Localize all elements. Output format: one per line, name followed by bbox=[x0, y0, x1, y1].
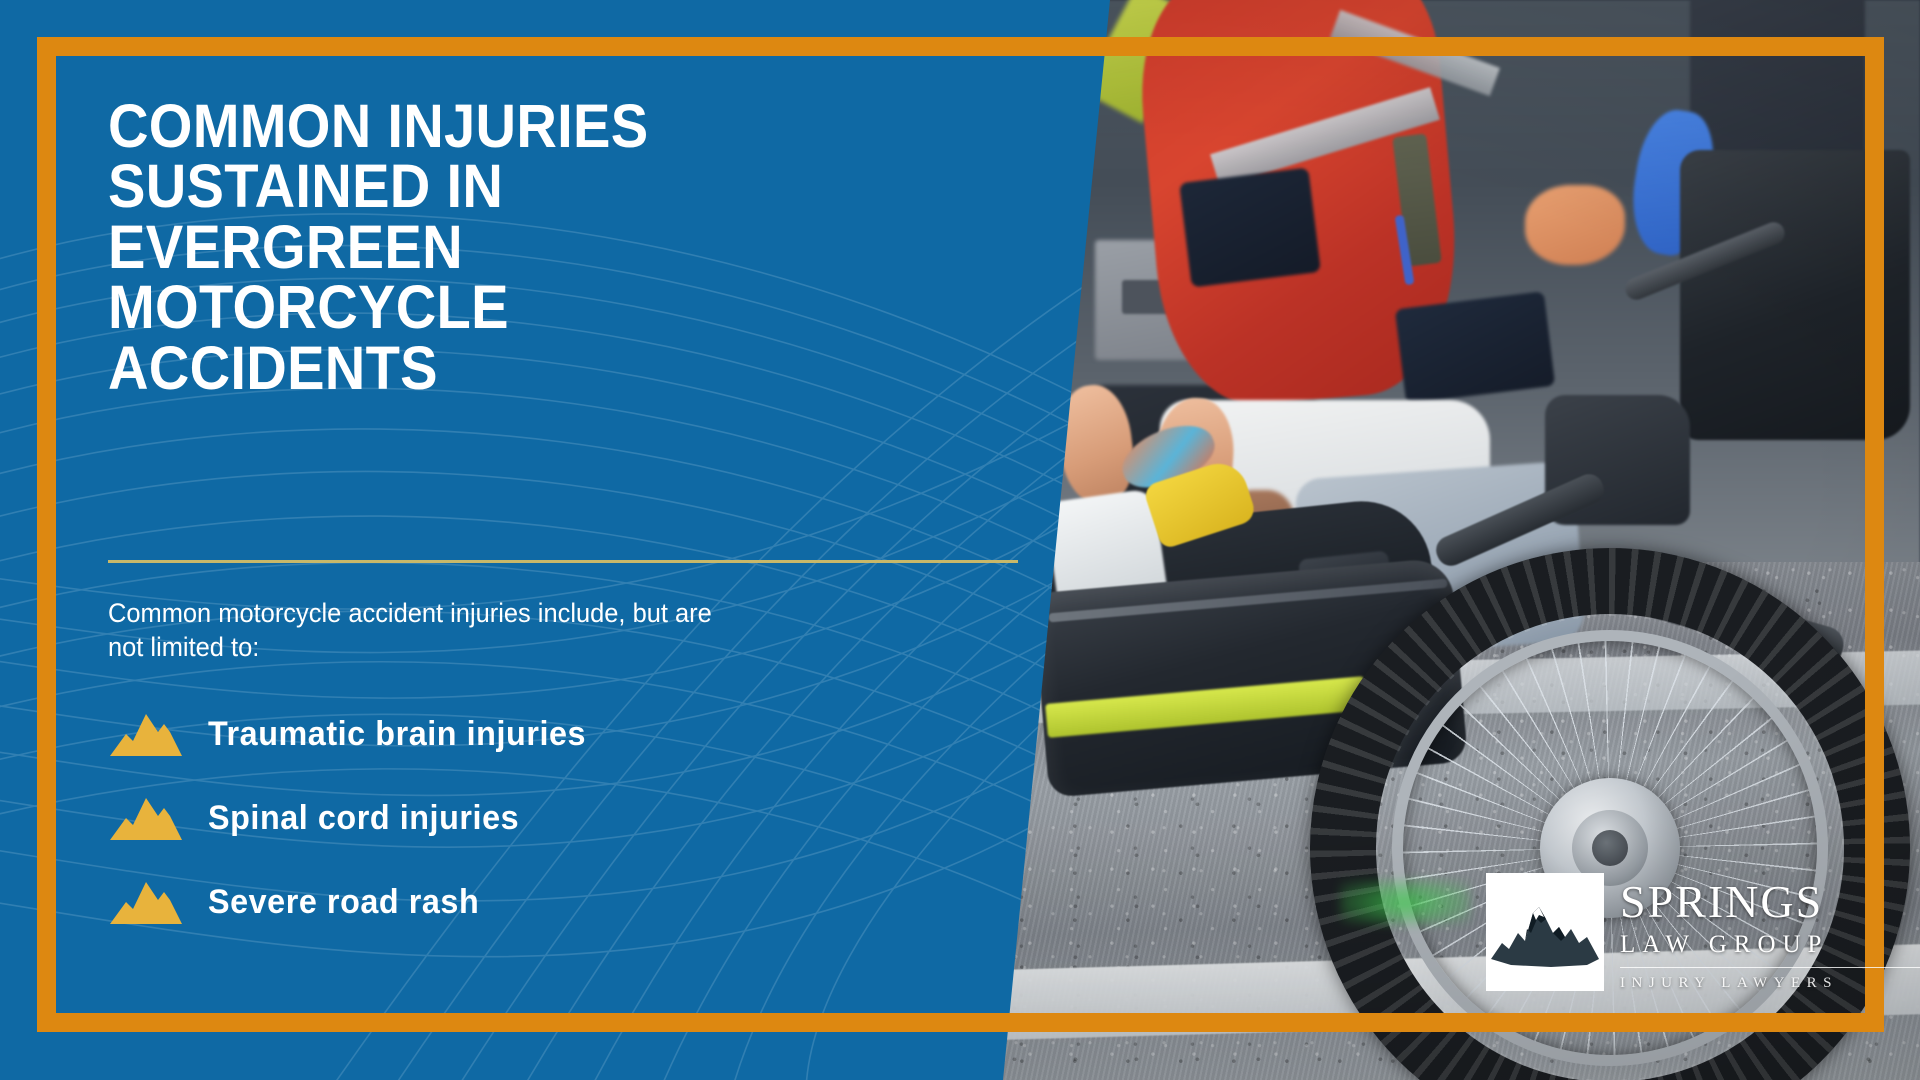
list-item: Severe road rash bbox=[108, 868, 938, 936]
mountain-icon bbox=[108, 710, 184, 758]
logo-mark-tile bbox=[1486, 873, 1604, 991]
springs-law-group-logo[interactable]: SPRINGS LAW GROUP INJURY LAWYERS bbox=[1486, 873, 1920, 992]
logo-subtitle: LAW GROUP bbox=[1620, 932, 1920, 957]
mountain-range-icon bbox=[1491, 893, 1599, 971]
logo-name: SPRINGS bbox=[1620, 879, 1920, 925]
mountain-icon bbox=[108, 878, 184, 926]
list-item: Traumatic brain injuries bbox=[108, 700, 938, 768]
page-title: COMMON INJURIES SUSTAINED IN EVERGREEN M… bbox=[108, 96, 752, 398]
list-item-label: Spinal cord injuries bbox=[208, 799, 519, 838]
list-item-label: Traumatic brain injuries bbox=[208, 715, 586, 754]
injury-list: Traumatic brain injuries Spinal cord inj… bbox=[108, 700, 938, 952]
logo-divider bbox=[1620, 967, 1920, 968]
gold-divider bbox=[108, 560, 1018, 563]
content-column: COMMON INJURIES SUSTAINED IN EVERGREEN M… bbox=[0, 0, 1010, 1080]
logo-tagline: INJURY LAWYERS bbox=[1620, 975, 1920, 992]
list-item: Spinal cord injuries bbox=[108, 784, 938, 852]
infographic-canvas: COMMON INJURIES SUSTAINED IN EVERGREEN M… bbox=[0, 0, 1920, 1080]
intro-text: Common motorcycle accident injuries incl… bbox=[108, 596, 722, 665]
logo-wordmark: SPRINGS LAW GROUP INJURY LAWYERS bbox=[1620, 873, 1920, 992]
mountain-icon bbox=[108, 794, 184, 842]
list-item-label: Severe road rash bbox=[208, 883, 479, 922]
